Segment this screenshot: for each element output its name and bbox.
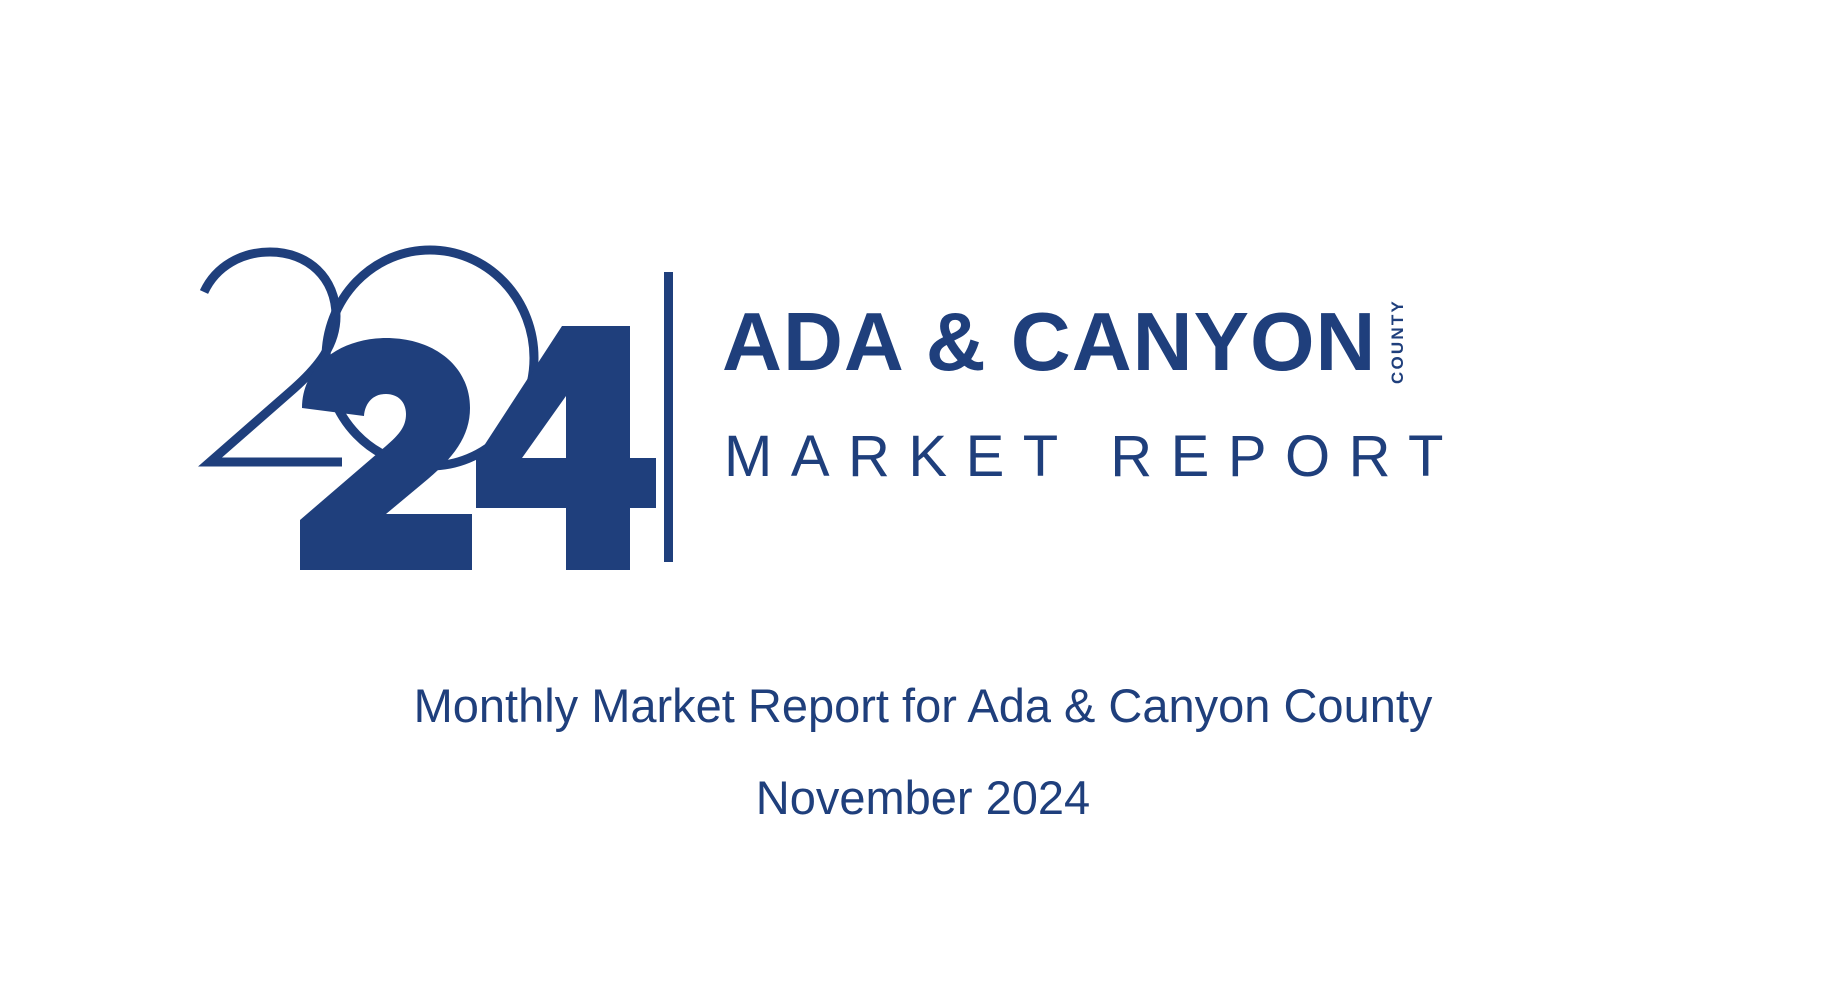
year-2024-icon — [190, 240, 650, 580]
wordmark-primary-row: ADA & CANYON COUNTY — [722, 302, 1642, 382]
logo-divider-rule — [664, 272, 673, 562]
report-subtitle: Monthly Market Report for Ada & Canyon C… — [0, 660, 1846, 752]
wordmark-secondary-text: MARKET REPORT — [724, 428, 1644, 486]
report-cover-slide: ADA & CANYON COUNTY MARKET REPORT Monthl… — [0, 0, 1846, 994]
wordmark-primary-text: ADA & CANYON — [722, 302, 1376, 382]
wordmark-county-text: COUNTY — [1388, 306, 1408, 384]
brand-wordmark: ADA & CANYON COUNTY MARKET REPORT — [722, 240, 1642, 580]
brand-logo-lockup: ADA & CANYON COUNTY MARKET REPORT — [190, 240, 1660, 580]
year-2024-logomark — [190, 240, 650, 580]
cover-caption-block: Monthly Market Report for Ada & Canyon C… — [0, 660, 1846, 844]
report-date: November 2024 — [0, 752, 1846, 844]
